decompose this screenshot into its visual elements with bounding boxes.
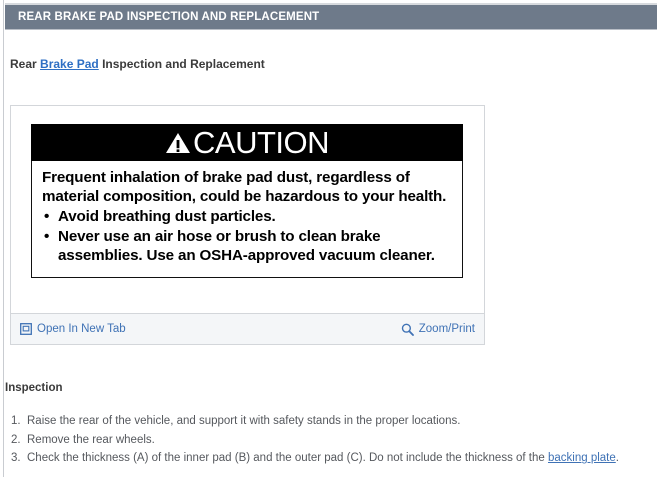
brake-pad-link[interactable]: Brake Pad (40, 57, 99, 71)
step-text-tail: . (616, 452, 619, 464)
document-title: Rear Brake Pad Inspection and Replacemen… (10, 57, 657, 73)
page-header-title: REAR BRAKE PAD INSPECTION AND REPLACEMEN… (5, 11, 319, 23)
caution-body: Frequent inhalation of brake pad dust, r… (32, 161, 462, 277)
inspection-steps-list: 1.Raise the rear of the vehicle, and sup… (5, 412, 653, 468)
open-in-new-tab-label: Open In New Tab (37, 323, 126, 335)
content-area: Rear Brake Pad Inspection and Replacemen… (5, 32, 657, 73)
caution-bullet-item: Avoid breathing dust particles. (42, 207, 452, 226)
left-edge-rail (0, 0, 4, 477)
step-number: 2. (11, 431, 21, 450)
figure-image-area[interactable]: CAUTION Frequent inhalation of brake pad… (11, 106, 484, 314)
document-title-prefix: Rear (10, 57, 40, 71)
inspection-step-2: 2.Remove the rear wheels. (5, 431, 653, 450)
caution-banner: CAUTION (31, 124, 463, 161)
caution-graphic: CAUTION Frequent inhalation of brake pad… (31, 124, 463, 278)
caution-bullet-item: Never use an air hose or brush to clean … (42, 227, 452, 265)
inspection-step-3: 3.Check the thickness (A) of the inner p… (5, 449, 653, 468)
zoom-print-button[interactable]: Zoom/Print (401, 323, 475, 336)
warning-triangle-icon (165, 131, 191, 155)
step-number: 1. (11, 412, 21, 431)
caution-bullet-list: Avoid breathing dust particles. Never us… (42, 207, 452, 265)
backing-plate-link[interactable]: backing plate (548, 452, 616, 464)
figure-container: CAUTION Frequent inhalation of brake pad… (10, 105, 485, 345)
step-text: Check the thickness (A) of the inner pad… (27, 452, 548, 464)
caution-lead-text: Frequent inhalation of brake pad dust, r… (42, 168, 452, 206)
page-header-bar: REAR BRAKE PAD INSPECTION AND REPLACEMEN… (5, 3, 657, 30)
zoom-print-label: Zoom/Print (419, 323, 475, 335)
open-in-new-tab-button[interactable]: Open In New Tab (20, 323, 126, 335)
inspection-heading: Inspection (5, 382, 63, 394)
figure-toolbar: Open In New Tab Zoom/Print (11, 313, 484, 344)
step-text: Raise the rear of the vehicle, and suppo… (27, 415, 460, 427)
external-window-icon (20, 323, 32, 335)
step-text: Remove the rear wheels. (27, 434, 155, 446)
magnifier-icon (401, 323, 414, 336)
document-title-suffix: Inspection and Replacement (99, 57, 265, 71)
inspection-step-1: 1.Raise the rear of the vehicle, and sup… (5, 412, 653, 431)
step-number: 3. (11, 449, 21, 468)
caution-banner-label: CAUTION (193, 127, 329, 158)
